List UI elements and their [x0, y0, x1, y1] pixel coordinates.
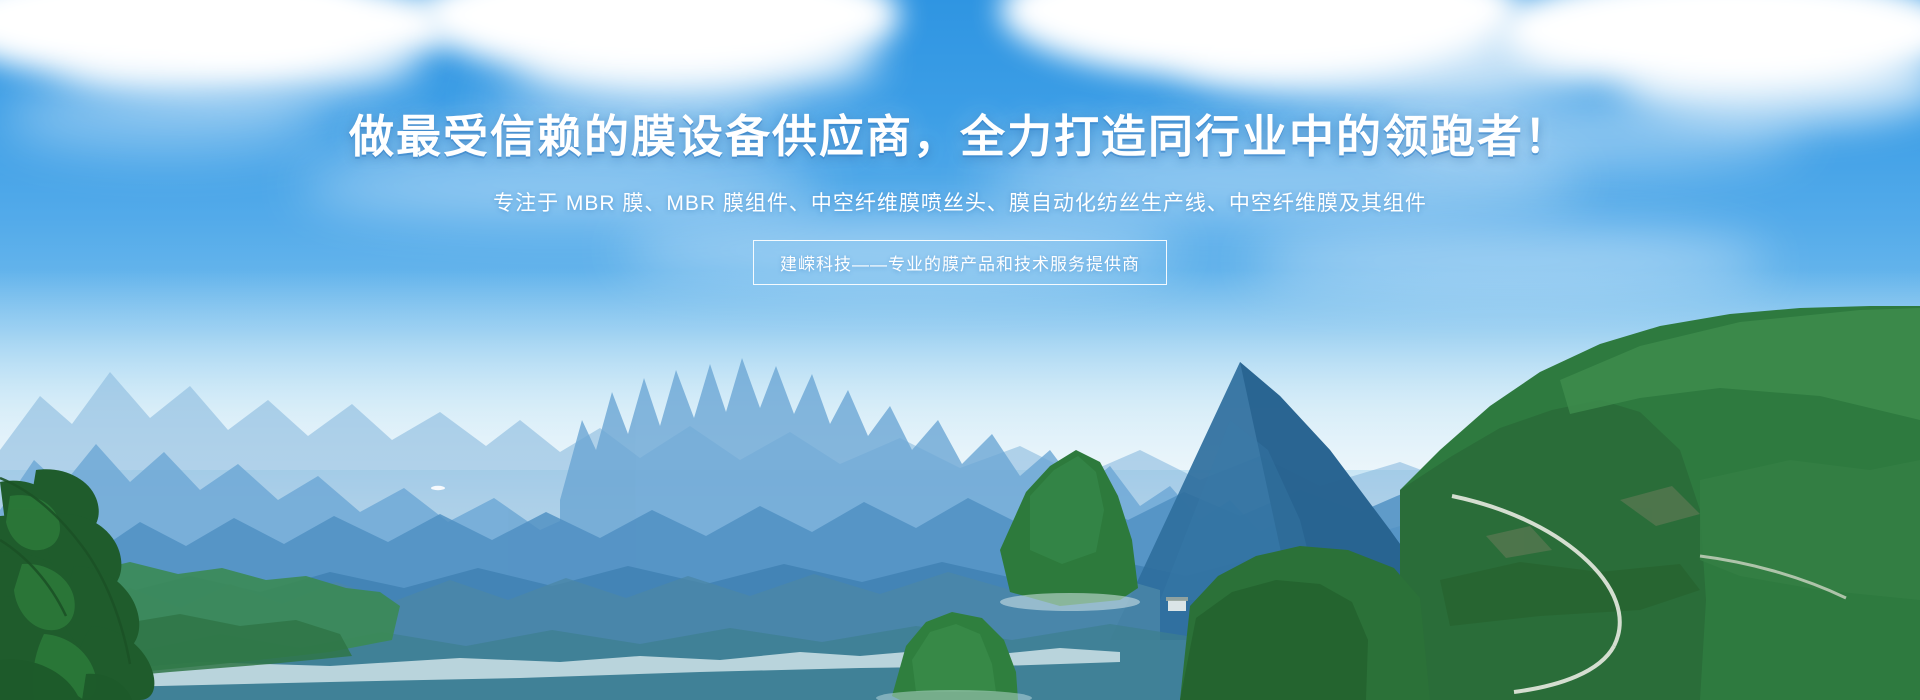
banner-headline: 做最受信赖的膜设备供应商，全力打造同行业中的领跑者！ — [0, 100, 1920, 165]
banner-subtitle: 专注于 MBR 膜、MBR 膜组件、中空纤维膜喷丝头、膜自动化纺丝生产线、中空纤… — [0, 187, 1920, 217]
tagline-box: 建嵘科技——专业的膜产品和技术服务提供商 — [753, 240, 1167, 285]
tagline-wrapper: 建嵘科技——专业的膜产品和技术服务提供商 — [0, 240, 1920, 285]
banner-copy: 做最受信赖的膜设备供应商，全力打造同行业中的领跑者！ 专注于 MBR 膜、MBR… — [0, 0, 1920, 340]
landscape-scene — [0, 300, 1920, 700]
hero-banner: 做最受信赖的膜设备供应商，全力打造同行业中的领跑者！ 专注于 MBR 膜、MBR… — [0, 0, 1920, 700]
small-boat — [0, 300, 1920, 700]
